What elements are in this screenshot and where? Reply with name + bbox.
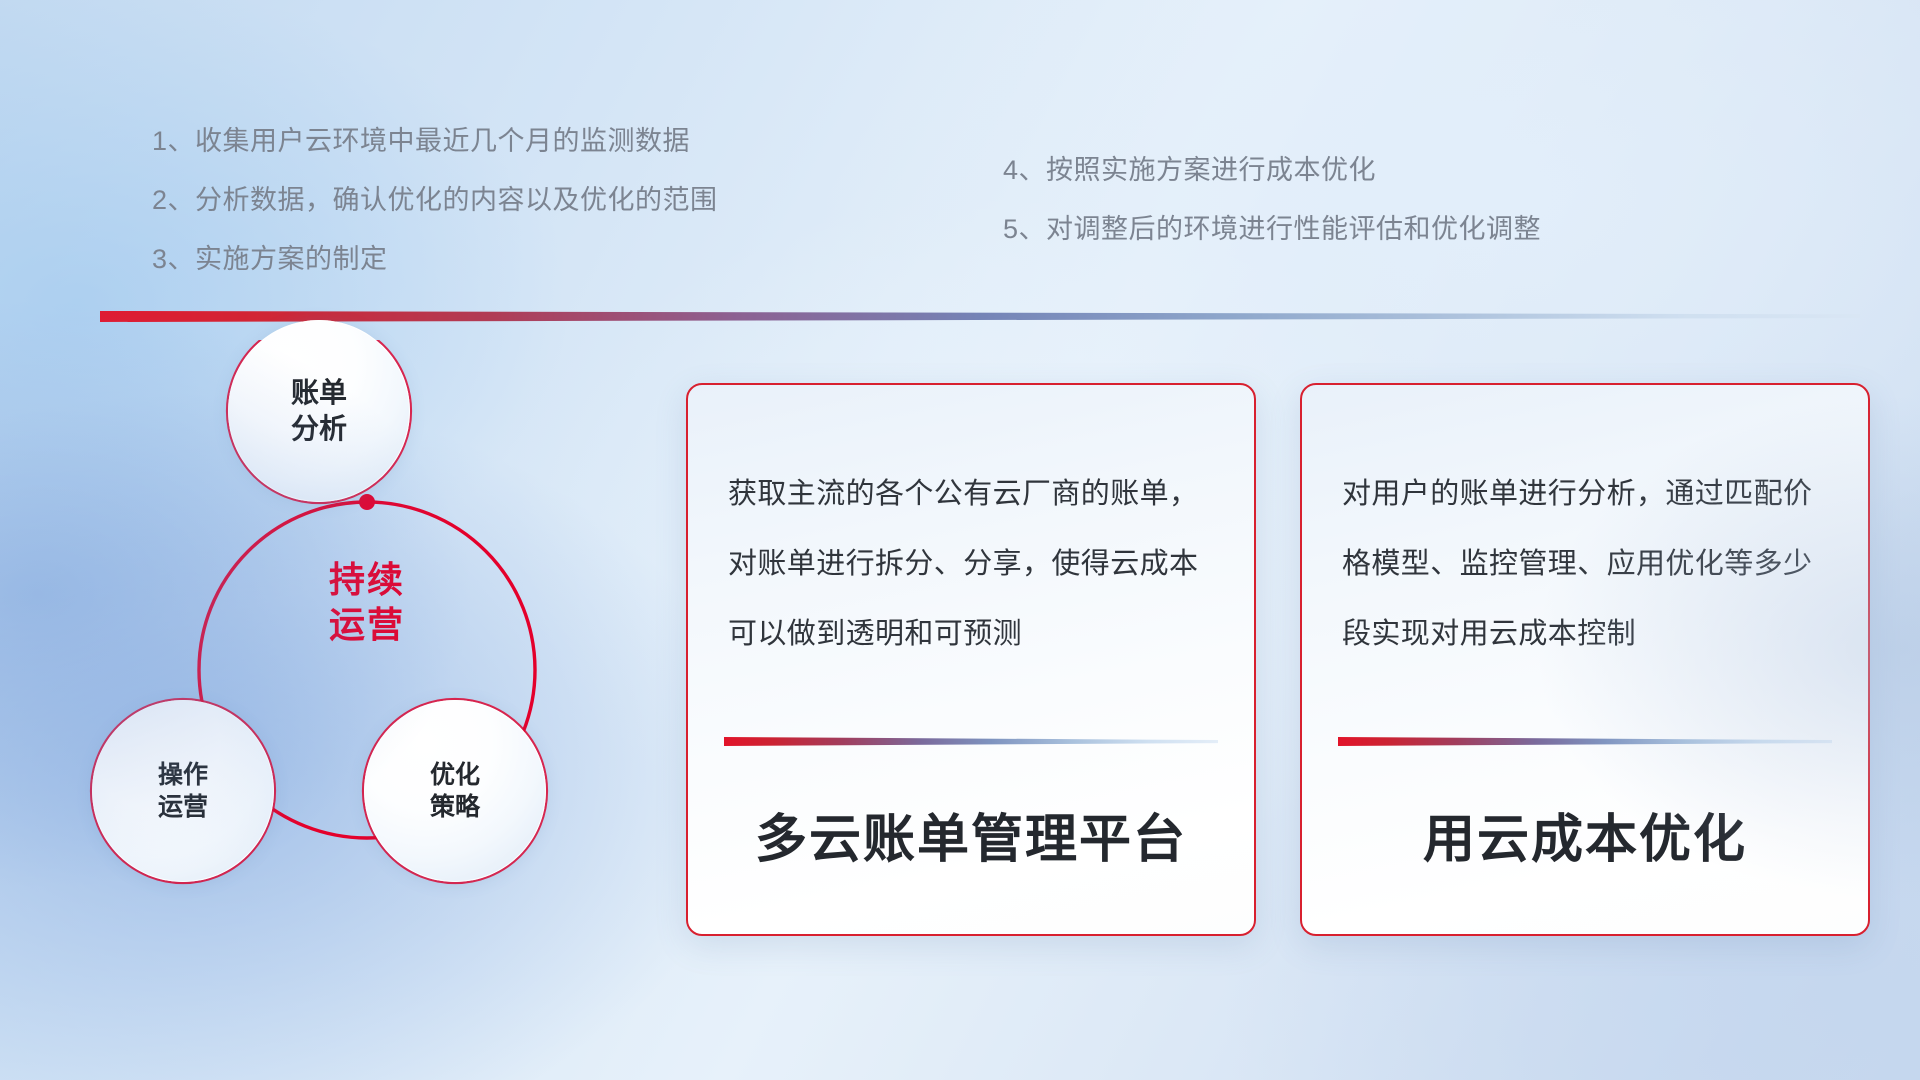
diagram-bubble-billing-analysis[interactable]: 账单 分析 xyxy=(228,320,410,502)
center-label-line2: 运营 xyxy=(329,604,405,645)
card-1-title: 多云账单管理平台 xyxy=(688,797,1254,872)
bubble-right-line2: 策略 xyxy=(430,793,480,821)
center-label-line1: 持续 xyxy=(329,559,405,600)
card-1-body: 获取主流的各个公有云厂商的账单，对账单进行拆分、分享，使得云成本可以做到透明和可… xyxy=(728,459,1220,670)
step-item-4: 4、按照实施方案进行成本优化 xyxy=(1003,157,1541,184)
diagram-bubble-optimization-strategy[interactable]: 优化 策略 xyxy=(364,700,546,882)
bubble-right-line1: 优化 xyxy=(430,761,480,789)
diagram-center-label: 持续 运营 xyxy=(228,523,506,681)
feature-card-cloud-cost-optimization[interactable]: 对用户的账单进行分析，通过匹配价格模型、监控管理、应用优化等多少段实现对用云成本… xyxy=(1300,383,1870,936)
slide-canvas: 1、收集用户云环境中最近几个月的监测数据 2、分析数据，确认优化的内容以及优化的… xyxy=(0,0,1920,1080)
step-item-1: 1、收集用户云环境中最近几个月的监测数据 xyxy=(152,128,718,155)
card-1-divider xyxy=(724,737,1218,746)
step-item-5: 5、对调整后的环境进行性能评估和优化调整 xyxy=(1003,216,1541,243)
step-item-3: 3、实施方案的制定 xyxy=(152,246,718,273)
card-2-body: 对用户的账单进行分析，通过匹配价格模型、监控管理、应用优化等多少段实现对用云成本… xyxy=(1342,459,1834,670)
feature-card-multicloud-billing[interactable]: 获取主流的各个公有云厂商的账单，对账单进行拆分、分享，使得云成本可以做到透明和可… xyxy=(686,383,1256,936)
continuous-operation-diagram: 账单 分析 操作 运营 优化 策略 持续 运营 xyxy=(86,340,626,960)
steps-list-right: 4、按照实施方案进行成本优化 5、对调整后的环境进行性能评估和优化调整 xyxy=(1003,157,1541,275)
section-divider xyxy=(100,311,1860,322)
node-dot-top xyxy=(359,494,375,510)
step-item-2: 2、分析数据，确认优化的内容以及优化的范围 xyxy=(152,187,718,214)
bubble-left-line2: 运营 xyxy=(158,793,208,821)
bubble-left-line1: 操作 xyxy=(158,761,208,789)
diagram-bubble-operations[interactable]: 操作 运营 xyxy=(92,700,274,882)
bubble-top-line1: 账单 xyxy=(291,377,347,408)
bubble-top-line2: 分析 xyxy=(291,413,347,444)
card-2-title: 用云成本优化 xyxy=(1302,797,1868,872)
steps-list-left: 1、收集用户云环境中最近几个月的监测数据 2、分析数据，确认优化的内容以及优化的… xyxy=(152,128,718,305)
card-2-divider xyxy=(1338,737,1832,746)
